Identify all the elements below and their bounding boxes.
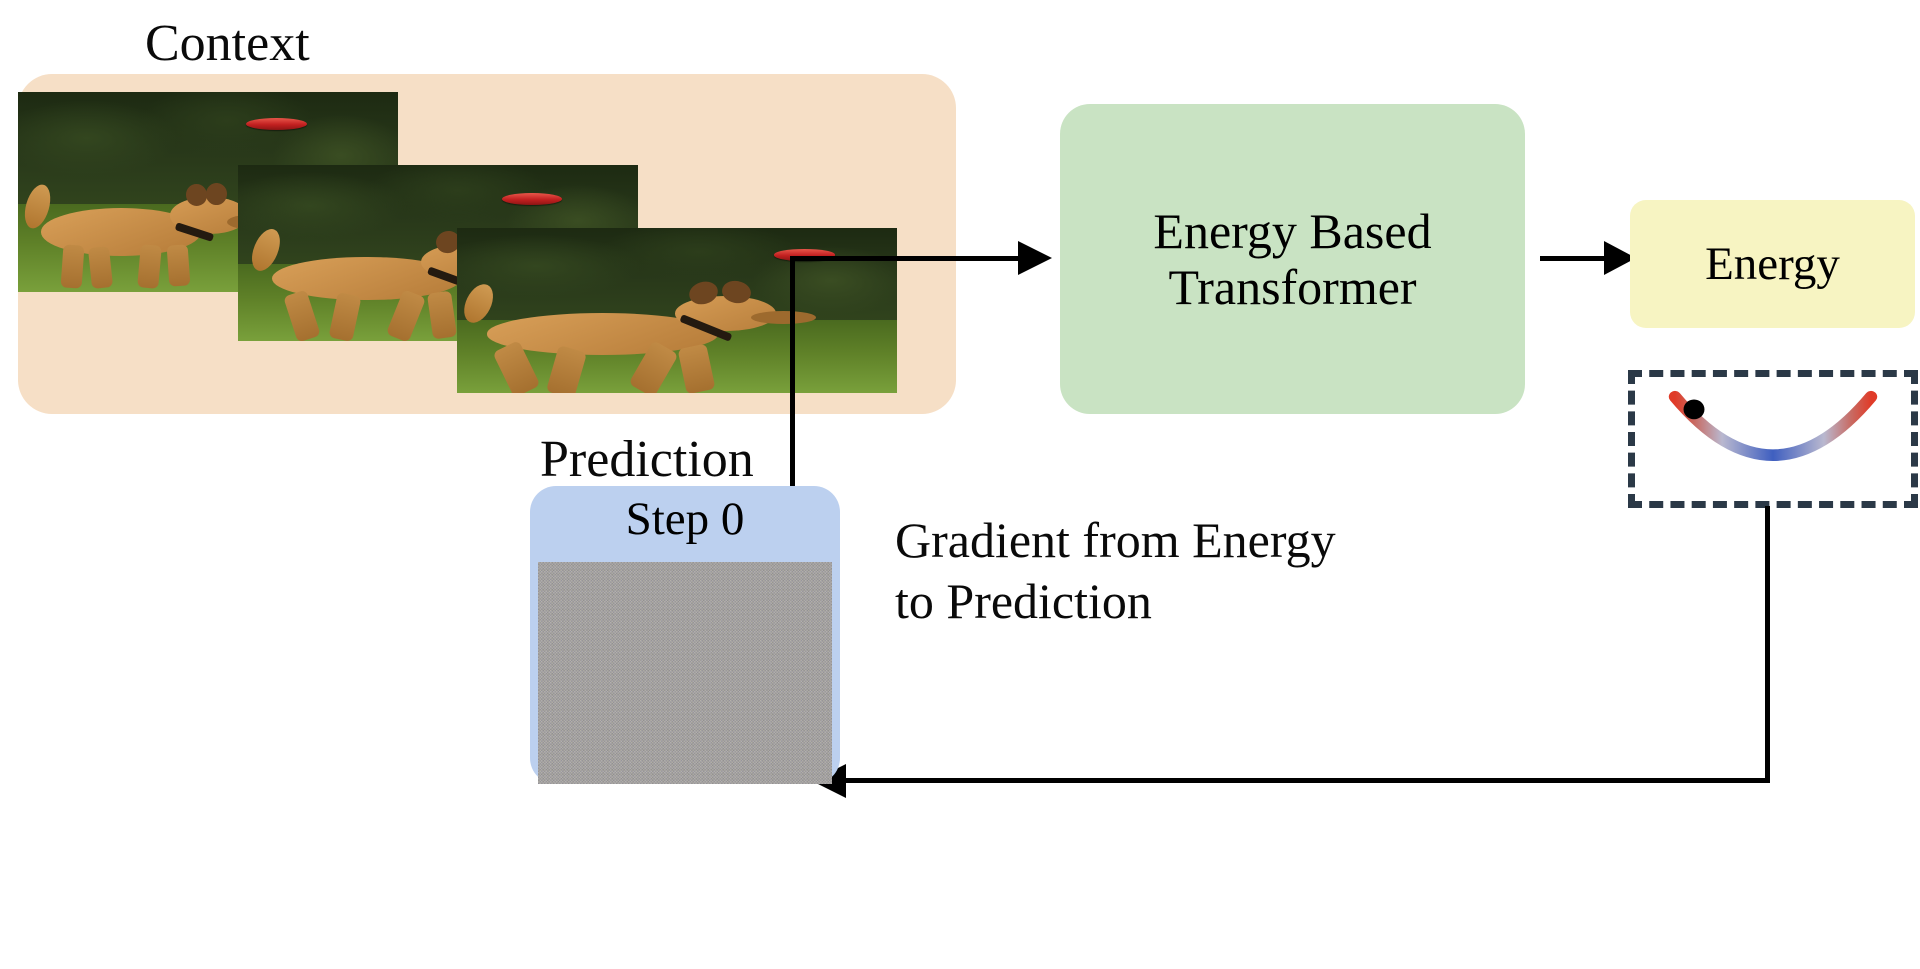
gradient-caption-line-1: Gradient from Energy	[895, 510, 1555, 571]
gradient-caption: Gradient from Energy to Prediction	[895, 510, 1555, 632]
energy-box[interactable]: Energy	[1630, 200, 1915, 328]
energy-based-transformer-box[interactable]: Energy Based Transformer	[1060, 104, 1525, 414]
energy-to-prediction-vertical-line	[1765, 506, 1770, 783]
context-to-model-arrowhead-icon	[1018, 241, 1052, 275]
prediction-to-model-line	[790, 258, 795, 490]
energy-ball-icon	[1684, 399, 1705, 419]
frisbee-icon	[246, 118, 307, 130]
energy-landscape-panel	[1628, 370, 1918, 508]
diagram-canvas: Context	[0, 0, 1920, 969]
energy-to-prediction-horizontal-line	[843, 778, 1768, 783]
prediction-box[interactable]: Step 0	[530, 486, 840, 784]
energy-landscape-curve	[1635, 377, 1911, 501]
model-to-energy-line	[1540, 256, 1612, 261]
model-label-line-2: Transformer	[1168, 259, 1416, 315]
parabola-path	[1675, 397, 1871, 455]
model-label-line-1: Energy Based	[1153, 203, 1431, 259]
prediction-noise-image	[538, 562, 832, 784]
context-frame-3	[457, 228, 897, 393]
prediction-step-label: Step 0	[530, 492, 840, 546]
context-title: Context	[145, 14, 310, 73]
prediction-title: Prediction	[540, 430, 754, 489]
dog-icon	[466, 281, 827, 390]
gradient-caption-line-2: to Prediction	[895, 571, 1555, 632]
context-to-model-line	[790, 256, 1020, 261]
energy-label: Energy	[1705, 237, 1840, 291]
dog-scene-3	[457, 228, 897, 393]
